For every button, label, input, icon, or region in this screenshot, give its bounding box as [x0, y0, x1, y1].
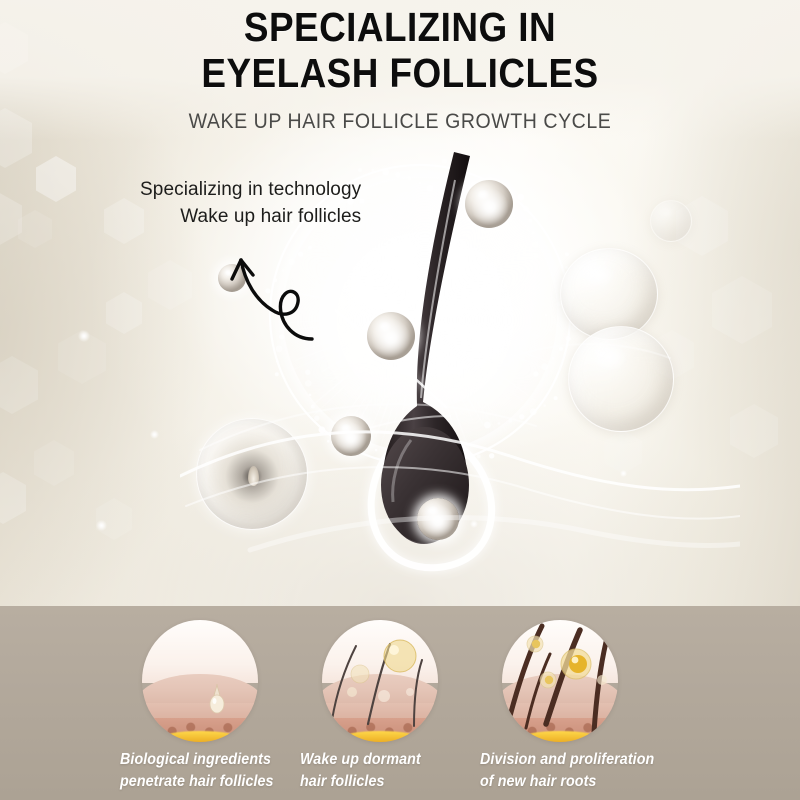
product-infographic-page: Specializing in technology Wake up hair … — [0, 0, 800, 800]
magnified-follicle-bulb — [248, 466, 259, 486]
molecule-pearl — [465, 180, 513, 228]
step-2-illustration — [322, 620, 438, 742]
annotation-line-1: Specializing in technology — [140, 176, 361, 203]
glass-droplet-large — [568, 326, 674, 432]
hero-annotation: Specializing in technology Wake up hair … — [140, 176, 361, 230]
thick-hairs-with-gold-droplets-icon — [502, 620, 618, 742]
header-titles: SPECIALIZING IN EYELASH FOLLICLES WAKE U… — [0, 0, 800, 134]
follicle-magnifier-lens — [196, 418, 308, 530]
curly-arrow-icon — [222, 248, 327, 348]
step-panel-3: Division and proliferation of new hair r… — [480, 620, 720, 793]
molecule-pearl — [367, 312, 415, 360]
serum-droplet-icon — [142, 620, 258, 742]
process-steps-section: Biological ingredients penetrate hair fo… — [0, 606, 800, 800]
step-3-caption: Division and proliferation of new hair r… — [480, 749, 701, 793]
dormant-hairs-with-oil-icon — [322, 620, 438, 742]
page-title-line-2: EYELASH FOLLICLES — [40, 52, 760, 94]
page-subtitle: WAKE UP HAIR FOLLICLE GROWTH CYCLE — [28, 110, 772, 134]
step-3-illustration — [502, 620, 618, 742]
molecule-pearl — [331, 416, 371, 456]
annotation-line-2: Wake up hair follicles — [140, 203, 361, 230]
step-1-illustration — [142, 620, 258, 742]
page-title-line-1: SPECIALIZING IN — [40, 6, 760, 48]
molecule-pearl — [417, 498, 459, 540]
glass-droplet-small — [650, 200, 692, 242]
